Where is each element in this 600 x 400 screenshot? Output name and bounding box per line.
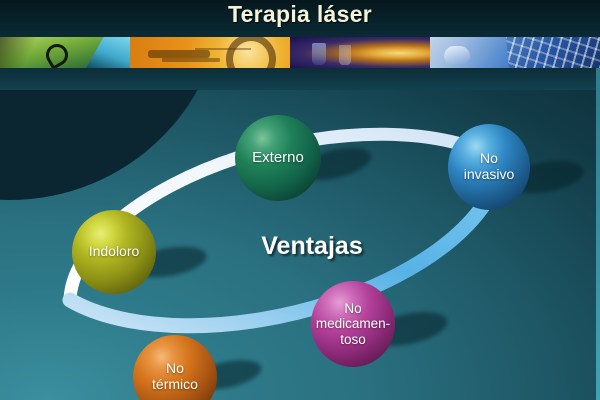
- sphere-no-termico[interactable]: Notérmico: [133, 335, 217, 400]
- computer-keyboard-photo: [430, 37, 600, 68]
- sphere-label-externo: Externo: [250, 150, 306, 167]
- sphere-indoloro[interactable]: Indoloro: [72, 210, 156, 294]
- header-lower-band: [0, 68, 600, 90]
- sphere-no-medicamentoso[interactable]: Nomedicamen-toso: [311, 281, 395, 367]
- sphere-externo[interactable]: Externo: [235, 115, 321, 201]
- sphere-label-indoloro: Indoloro: [87, 244, 142, 260]
- green-leaf-photo: [0, 37, 130, 68]
- header-photo-strip: [0, 37, 600, 68]
- slide-canvas: Terapia láser Ventajas: [0, 0, 600, 400]
- orange-machinery-photo: [130, 37, 290, 68]
- sphere-no-invasivo[interactable]: Noinvasivo: [448, 124, 530, 210]
- sphere-label-no-medicamentoso: Nomedicamen-toso: [314, 301, 392, 346]
- sphere-label-no-termico: Notérmico: [150, 361, 200, 392]
- sphere-label-no-invasivo: Noinvasivo: [462, 151, 517, 182]
- lab-glassware-photo: [290, 37, 430, 68]
- center-label: Ventajas: [232, 232, 392, 261]
- page-title: Terapia láser: [0, 1, 600, 28]
- right-edge-accent: [596, 68, 600, 400]
